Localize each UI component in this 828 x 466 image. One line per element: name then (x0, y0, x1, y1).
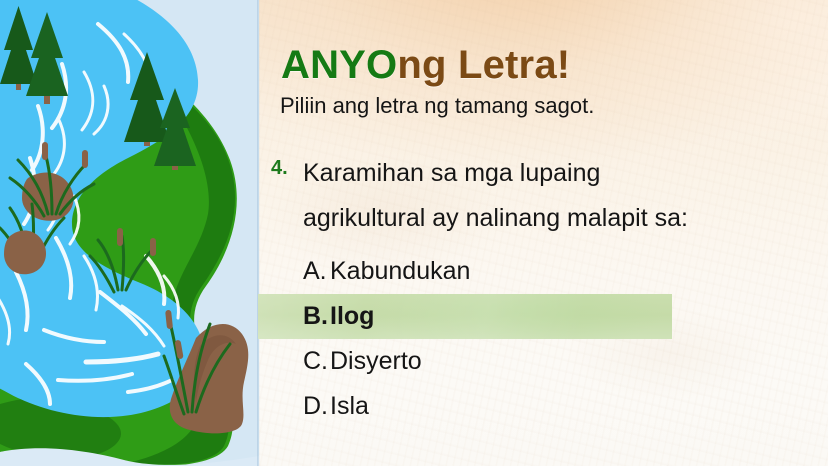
river-landscape-illustration (0, 0, 259, 466)
answer-option-b-label: Ilog (330, 302, 374, 330)
page-title-brown: ng Letra! (397, 43, 570, 87)
slide-root: ANYOng Letra! Piliin ang letra ng tamang… (0, 0, 828, 466)
answer-option-c[interactable]: C.Disyerto (258, 339, 828, 384)
answer-option-a-letter: A. (303, 249, 330, 294)
answer-option-b[interactable]: B.Ilog (258, 294, 672, 339)
question-number: 4. (271, 156, 288, 180)
slide-content: ANYOng Letra! Piliin ang letra ng tamang… (258, 0, 828, 466)
answer-option-c-label: Disyerto (330, 347, 422, 375)
page-title: ANYOng Letra! (281, 42, 570, 88)
page-title-green: ANYO (281, 43, 397, 87)
question-line-2: agrikultural ay nalinang malapit sa: (303, 196, 823, 241)
answer-option-b-letter: B. (303, 294, 330, 339)
answer-option-c-letter: C. (303, 339, 330, 384)
answer-option-d-label: Isla (330, 392, 369, 420)
answer-option-a-label: Kabundukan (330, 257, 470, 285)
answer-options-list: A.Kabundukan B.Ilog C.Disyerto D.Isla (258, 249, 828, 429)
answer-option-a[interactable]: A.Kabundukan (258, 249, 828, 294)
answer-option-d-letter: D. (303, 384, 330, 429)
answer-option-d[interactable]: D.Isla (258, 384, 828, 429)
question-line-1: Karamihan sa mga lupaing (303, 151, 823, 196)
instruction-text: Piliin ang letra ng tamang sagot. (280, 92, 594, 120)
question-text: Karamihan sa mga lupaing agrikultural ay… (303, 151, 823, 241)
